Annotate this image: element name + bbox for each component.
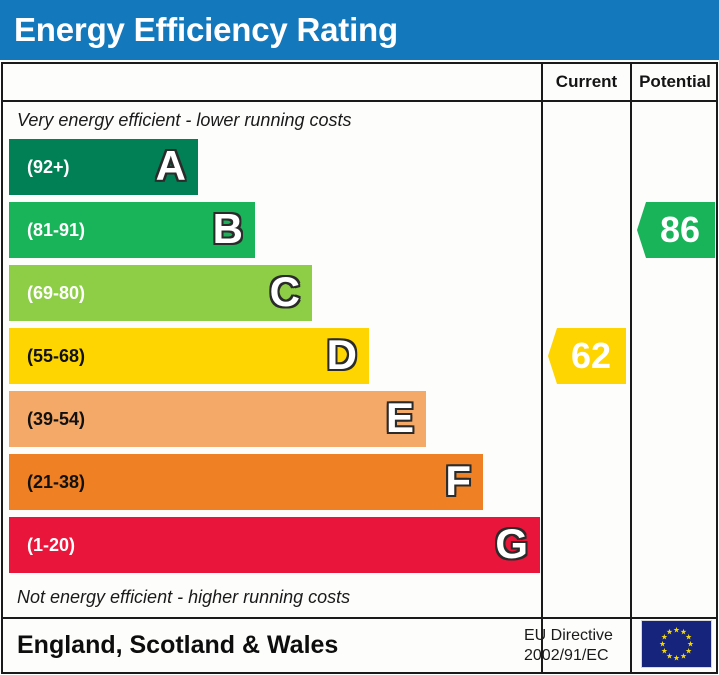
column-divider-current: [541, 64, 543, 672]
band-range-e: (39-54): [27, 409, 85, 430]
band-letter-c: C: [270, 271, 300, 313]
band-letter-a: A: [156, 145, 186, 187]
energy-efficiency-rating-certificate: Energy Efficiency Rating Current Potenti…: [0, 0, 719, 675]
band-range-c: (69-80): [27, 283, 85, 304]
band-row-c: (69-80)C: [9, 265, 312, 321]
band-row-d: (55-68)D: [9, 328, 369, 384]
band-range-g: (1-20): [27, 535, 75, 556]
current-rating-arrow: 62: [548, 328, 626, 384]
footer-region-label: England, Scotland & Wales: [17, 619, 338, 672]
band-list: (92+)A(81-91)B(69-80)C(55-68)D(39-54)E(2…: [9, 139, 541, 579]
band-row-f: (21-38)F: [9, 454, 483, 510]
column-divider-potential: [630, 64, 632, 672]
directive-line-1: EU Directive: [524, 626, 613, 646]
directive-line-2: 2002/91/EC: [524, 646, 613, 666]
band-row-b: (81-91)B: [9, 202, 255, 258]
column-header-current: Current: [543, 64, 630, 100]
band-row-e: (39-54)E: [9, 391, 426, 447]
caption-efficient: Very energy efficient - lower running co…: [17, 102, 352, 138]
band-letter-e: E: [386, 397, 414, 439]
band-range-a: (92+): [27, 157, 70, 178]
title-banner: Energy Efficiency Rating: [0, 0, 719, 60]
column-header-potential: Potential: [632, 64, 718, 100]
potential-rating-arrow-value: 86: [652, 212, 700, 248]
band-range-b: (81-91): [27, 220, 85, 241]
band-row-a: (92+)A: [9, 139, 198, 195]
band-letter-d: D: [327, 334, 357, 376]
potential-rating-arrow: 86: [637, 202, 715, 258]
current-rating-arrow-value: 62: [563, 338, 611, 374]
band-letter-b: B: [213, 208, 243, 250]
band-range-f: (21-38): [27, 472, 85, 493]
footer-eu-directive: EU Directive 2002/91/EC: [524, 619, 613, 672]
band-row-g: (1-20)G: [9, 517, 540, 573]
band-letter-f: F: [445, 460, 471, 502]
band-letter-g: G: [495, 523, 528, 565]
eu-flag-icon: [641, 620, 712, 668]
caption-inefficient: Not energy efficient - higher running co…: [17, 579, 350, 615]
band-range-d: (55-68): [27, 346, 85, 367]
page-title: Energy Efficiency Rating: [14, 11, 398, 49]
rating-table: Current Potential Very energy efficient …: [1, 62, 718, 674]
